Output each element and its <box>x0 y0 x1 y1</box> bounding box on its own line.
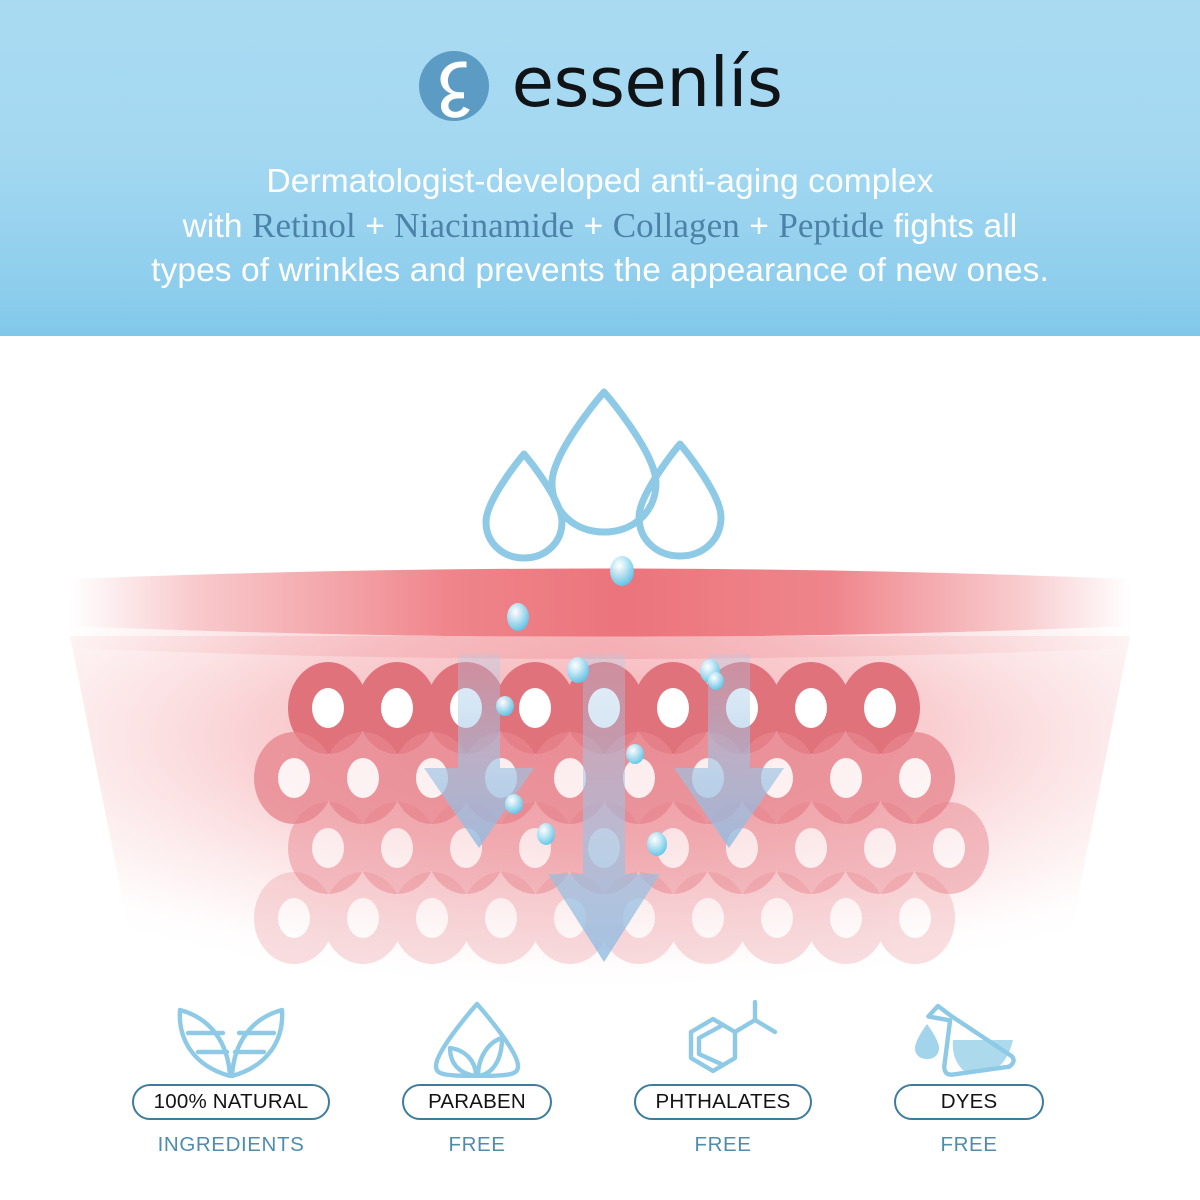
pill-label[interactable]: PHTHALATES <box>634 1084 813 1120</box>
badge-phthalates-free[interactable]: PHTHALATES FREE <box>600 1000 846 1157</box>
badge-sublabel: FREE <box>940 1133 997 1157</box>
skin-diagram-svg <box>0 336 1200 996</box>
pill-label[interactable]: PARABEN <box>402 1084 552 1120</box>
plus-separator: + <box>574 208 612 245</box>
pill-label[interactable]: DYES <box>894 1084 1044 1120</box>
headline-line: types of wrinkles and prevents the appea… <box>45 249 1155 293</box>
molecule-structure-icon <box>663 1000 783 1078</box>
circular-e-monogram-icon <box>418 50 490 122</box>
water-droplet-outline-icon <box>486 392 721 558</box>
badge-sublabel: FREE <box>448 1133 505 1157</box>
headline-text-run: types of wrinkles and prevents the appea… <box>151 252 1049 289</box>
droplet-with-leaves-icon <box>422 1000 532 1078</box>
badge-dyes-free[interactable]: DYES FREE <box>846 1000 1092 1157</box>
two-leaves-icon <box>166 1000 296 1078</box>
headline-text-run: Dermatologist-developed anti-aging compl… <box>266 163 933 200</box>
headline-text-run: with <box>183 208 252 245</box>
badge-natural-ingredients[interactable]: 100% NATURAL INGREDIENTS <box>108 1000 354 1157</box>
flask-pouring-droplet-icon <box>909 1000 1029 1078</box>
badge-sublabel: FREE <box>694 1133 751 1157</box>
header-banner: essenlís Dermatologist-developed anti-ag… <box>0 0 1200 336</box>
ingredient-name: Niacinamide <box>394 206 574 245</box>
ingredient-name: Collagen <box>613 206 740 245</box>
skin-penetration-diagram <box>0 336 1200 996</box>
pill-label[interactable]: 100% NATURAL <box>132 1084 331 1120</box>
headline-text-run: fights all <box>884 208 1017 245</box>
brand-logo: essenlís <box>0 40 1200 132</box>
plus-separator: + <box>356 208 394 245</box>
certification-badges: 100% NATURAL INGREDIENTS PARABEN FREE <box>0 1000 1200 1170</box>
plus-separator: + <box>740 208 778 245</box>
headline-line: Dermatologist-developed anti-aging compl… <box>45 160 1155 204</box>
ingredient-name: Peptide <box>778 206 884 245</box>
ingredient-name: Retinol <box>252 206 356 245</box>
brand-wordmark: essenlís <box>512 49 783 118</box>
infographic-page: essenlís Dermatologist-developed anti-ag… <box>0 0 1200 1200</box>
headline-text: Dermatologist-developed anti-aging compl… <box>45 160 1155 293</box>
badge-sublabel: INGREDIENTS <box>158 1133 305 1157</box>
headline-line: with Retinol + Niacinamide + Collagen + … <box>45 204 1155 249</box>
badge-paraben-free[interactable]: PARABEN FREE <box>354 1000 600 1157</box>
